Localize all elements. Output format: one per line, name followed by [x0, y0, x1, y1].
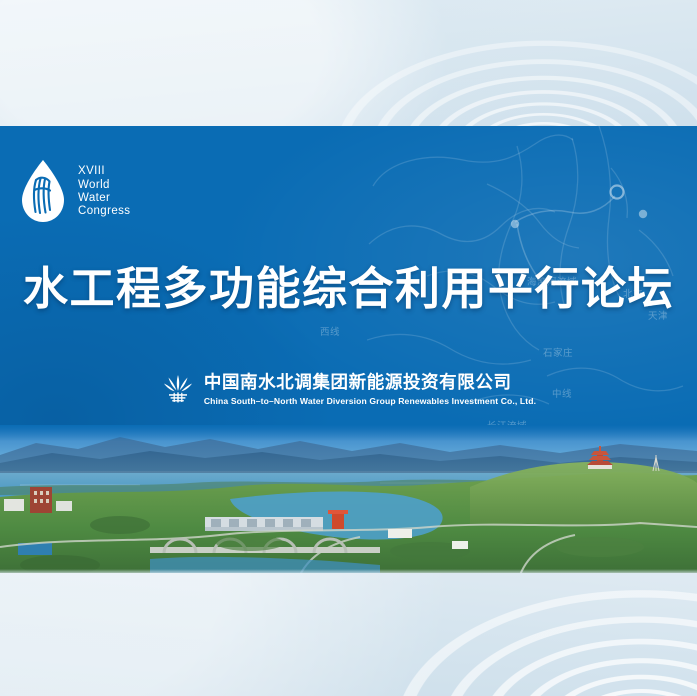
- company-lockup: 中国南水北调集团新能源投资有限公司 China South–to–North W…: [0, 369, 697, 406]
- water-ripple-bottom: [0, 573, 697, 696]
- company-name-english: China South–to–North Water Diversion Gro…: [204, 396, 536, 406]
- page-title: 水工程多功能综合利用平行论坛: [0, 252, 697, 317]
- congress-line-water: Water: [78, 192, 130, 205]
- water-ripple-top: [0, 0, 697, 128]
- congress-logo-text: XVIII World Water Congress: [78, 165, 130, 218]
- reservoir-landscape-photo: [0, 425, 697, 575]
- world-water-congress-logo: XVIII World Water Congress: [16, 158, 130, 226]
- fountain-emblem-icon: [161, 371, 195, 405]
- congress-line-congress: Congress: [78, 205, 130, 218]
- congress-line-xviii: XVIII: [78, 165, 130, 178]
- poster-root: 海滦河流域 北京 天津 石家庄 中线 淮河流域 西线 长江流域 XVIII Wo…: [0, 0, 697, 696]
- congress-line-world: World: [78, 179, 130, 192]
- map-label: 西线: [320, 324, 340, 338]
- water-drop-icon: [16, 158, 70, 226]
- company-name-chinese: 中国南水北调集团新能源投资有限公司: [204, 369, 536, 394]
- company-name-block: 中国南水北调集团新能源投资有限公司 China South–to–North W…: [204, 369, 536, 406]
